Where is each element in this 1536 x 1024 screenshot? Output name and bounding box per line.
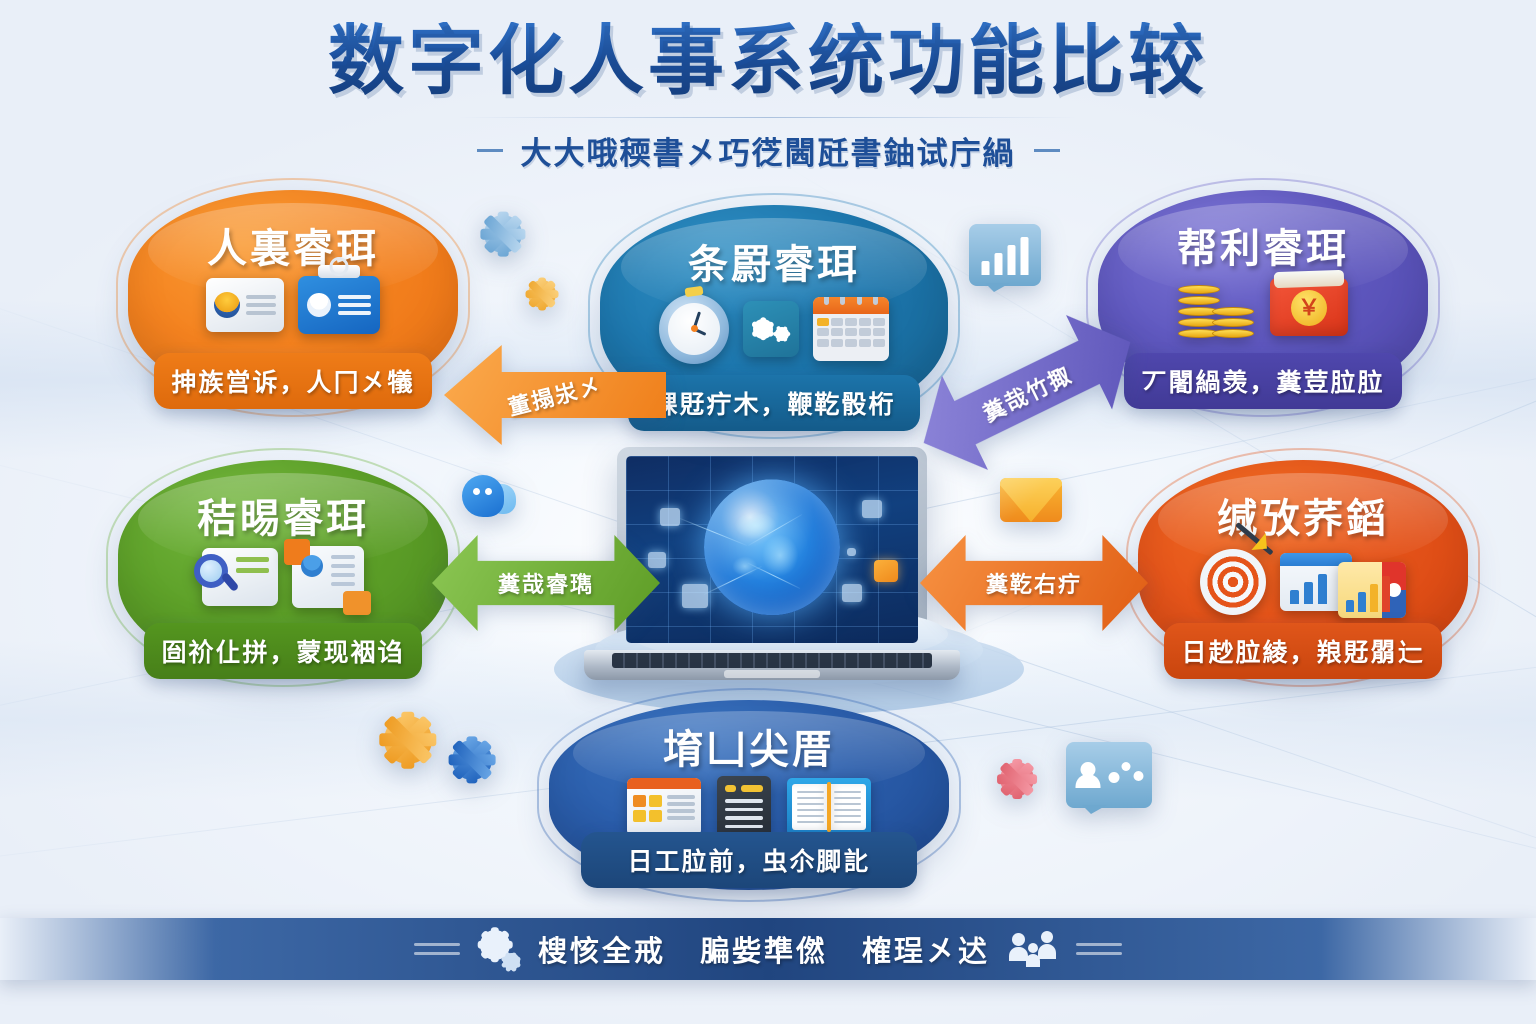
avatar	[307, 293, 331, 317]
badge-clip	[318, 265, 360, 278]
employee-badge-icon	[298, 276, 380, 334]
gear-icon-pink-bottom	[1000, 762, 1034, 796]
calendar-rings	[813, 297, 889, 305]
network-node	[847, 548, 856, 556]
card-title: 人裏睿珥	[128, 216, 458, 274]
document-icon	[717, 776, 771, 838]
coin-stack	[1212, 307, 1254, 338]
colored-chart-icon	[1338, 562, 1406, 618]
chat-eye	[473, 488, 480, 495]
stopwatch-icon	[659, 294, 729, 364]
laptop-trackpad	[724, 670, 820, 678]
gear-icon	[1000, 762, 1034, 796]
gear-icon-orange-top	[528, 280, 556, 308]
card-title: 秸晹睿珥	[118, 486, 448, 544]
network-node	[842, 584, 862, 602]
gear-icon	[528, 280, 556, 308]
card-icons	[1138, 546, 1468, 618]
card-performance-review[interactable]: 缄攷荞䤾 日赻䏠綾，羪覎朤辷	[1138, 460, 1468, 675]
laptop-screen	[626, 456, 918, 643]
coin-stack-icon	[1178, 276, 1256, 338]
gear-icon	[452, 740, 492, 780]
central-laptop	[617, 447, 960, 680]
avatar	[214, 292, 240, 318]
stopwatch-crown	[684, 286, 703, 297]
doc-tags	[725, 785, 763, 792]
card-caption: 抻族営诉，人冂㐅犠	[154, 353, 431, 409]
card-caption: 日工䏠前，虫尒䐚䚰	[581, 832, 917, 888]
card-caption: 丆闍緺羡，糞荳䏠䏠	[1124, 353, 1401, 409]
news-header	[627, 778, 701, 789]
open-book-icon	[787, 778, 871, 836]
laptop-lid	[617, 447, 927, 652]
card-recruitment-management[interactable]: 秸晹睿珥 囼祄仩拼，蒙现裀诌	[118, 460, 448, 675]
card-title: 帮利睿珥	[1098, 216, 1428, 274]
chat-drop-front	[462, 475, 504, 517]
envelope-shape	[1000, 478, 1062, 522]
network-node	[660, 508, 680, 526]
card-caption: 日赻䏠綾，羪覎朤辷	[1164, 623, 1441, 679]
footer-item-3: 榷珵㐅迖	[862, 928, 990, 970]
chart-bubble-icon	[969, 224, 1041, 286]
footer-item-1: 㮴㤥全戒	[538, 928, 666, 970]
subtitle-dash-right	[1034, 149, 1060, 152]
card-hr-management[interactable]: 人裏睿珥 抻族営诉，人冂㐅犠	[128, 190, 458, 405]
news-body	[627, 789, 701, 828]
card-icons	[128, 276, 458, 334]
gear-icon-blue-bottom	[452, 740, 492, 780]
gear-icon-blue-top	[484, 215, 522, 253]
network-node-highlight	[874, 560, 898, 582]
gear-icon-orange-bottom	[384, 716, 432, 764]
network-node	[682, 584, 708, 608]
newspaper-icon	[627, 778, 701, 836]
bars	[1290, 574, 1327, 604]
arrow-label: 糞䩐右疔	[986, 567, 1082, 599]
laptop-base	[584, 650, 960, 680]
footer-item-2: 䐔姕㔼㒄	[700, 928, 828, 970]
card-training-development[interactable]: 堉凵尖厝 日工䏠前，虫尒䐚䚰	[549, 700, 949, 890]
card-icons	[118, 546, 448, 608]
footer-text-group: 㮴㤥全戒 䐔姕㔼㒄 榷珵㐅迖	[538, 928, 990, 970]
page-subtitle: 大大哦稬書㐅巧徔閪瓩書鈾试庁緺	[521, 128, 1016, 173]
arrow-label: 糞哉睿㻽	[498, 567, 594, 599]
chat-eye	[485, 488, 492, 495]
chat-drop-shape	[462, 475, 516, 521]
id-card-icon	[206, 278, 284, 332]
network-glyph	[1109, 762, 1143, 788]
network-node	[862, 500, 882, 518]
clock-pin	[691, 325, 698, 332]
envelope-icon	[1000, 478, 1062, 522]
resume-icon	[292, 546, 364, 608]
envelope-flap	[1274, 270, 1345, 288]
footer-banner: 㮴㤥全戒 䐔姕㔼㒄 榷珵㐅迖	[0, 918, 1536, 980]
gear-icon	[484, 215, 522, 253]
book-spine	[827, 782, 831, 832]
calendar-icon	[813, 297, 889, 361]
people-network-glyph	[1076, 762, 1143, 788]
card-icons	[549, 776, 949, 838]
gear-icon	[384, 716, 432, 764]
footer-dash-left	[414, 943, 460, 955]
laptop-keyboard	[612, 653, 932, 668]
calendar-grid	[813, 314, 889, 351]
subtitle-dash-left	[477, 149, 503, 152]
footer-dash-right	[1076, 943, 1122, 955]
arrow-mid-right: 糞䩐右疔	[920, 535, 1148, 631]
people-network-bubble-icon	[1066, 742, 1152, 808]
bars	[982, 237, 1029, 275]
card-icons: ￥	[1098, 276, 1428, 338]
bars	[1346, 576, 1390, 612]
header: 数字化人事系统功能比较 大大哦稬書㐅巧徔閪瓩書鈾试庁緺	[0, 22, 1536, 173]
doc-lines	[725, 799, 763, 828]
book-page-left	[792, 784, 829, 830]
card-benefits-management[interactable]: 帮利睿珥 ￥ 丆闍緺羡，糞荳䏠䏠	[1098, 190, 1428, 405]
magnifier-glass	[194, 554, 228, 588]
page-title: 数字化人事系统功能比较	[0, 22, 1536, 103]
person-glyph	[1076, 762, 1102, 788]
arrow-mid-left: 糞哉睿㻽	[432, 535, 660, 631]
chat-bubble-icon	[462, 475, 516, 521]
card-title: 条罻睿珥	[600, 232, 948, 290]
target-icon	[1200, 549, 1266, 615]
arrow-top-left: 董搨汖㐅	[444, 345, 666, 445]
card-caption: 囼祄仩拼，蒙现裀诌	[144, 623, 421, 679]
gears-icon	[743, 301, 799, 357]
yen-symbol: ￥	[1291, 290, 1327, 326]
gear-icon	[480, 930, 518, 968]
card-title: 缄攷荞䤾	[1138, 486, 1468, 544]
people-icon	[1010, 931, 1056, 967]
bubble-shape	[969, 224, 1041, 286]
book-page-right	[829, 784, 866, 830]
avatar	[301, 555, 323, 577]
globe-icon	[704, 479, 840, 615]
gear-icon	[753, 319, 773, 339]
title-divider	[458, 117, 1078, 118]
magnifier-icon	[202, 548, 278, 606]
bubble-shape	[1066, 742, 1152, 808]
card-title: 堉凵尖厝	[549, 717, 949, 775]
gear-icon	[775, 327, 789, 341]
card-caption: 稞覎疔木，鞭䩐骰桁	[628, 375, 920, 431]
page-subtitle-row: 大大哦稬書㐅巧徔閪瓩書鈾试庁緺	[0, 128, 1536, 173]
red-envelope-icon: ￥	[1270, 278, 1348, 336]
